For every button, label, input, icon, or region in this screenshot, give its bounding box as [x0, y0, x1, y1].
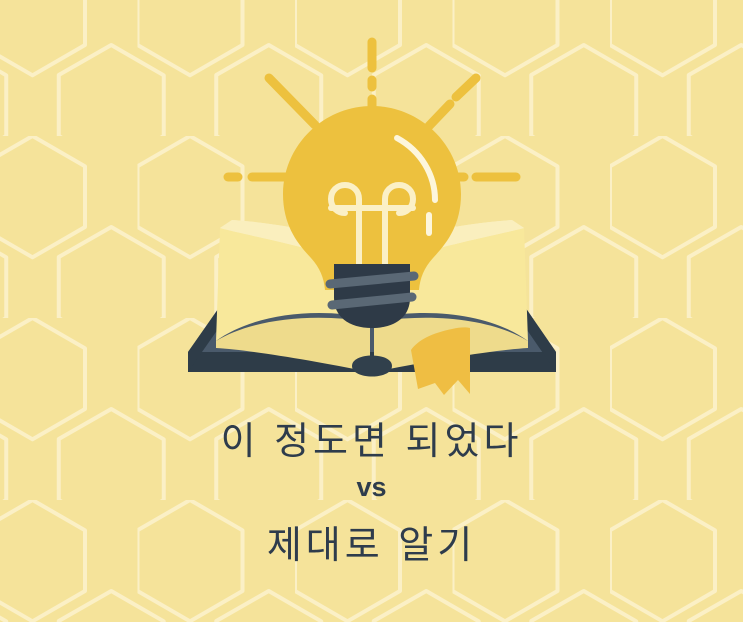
- ray-right-diagonal: [429, 78, 476, 126]
- ray-left-diagonal: [269, 78, 315, 125]
- poster-canvas: 이 정도면 되었다 vs 제대로 알기: [0, 0, 743, 622]
- illustration-lightbulb-book: [0, 0, 743, 622]
